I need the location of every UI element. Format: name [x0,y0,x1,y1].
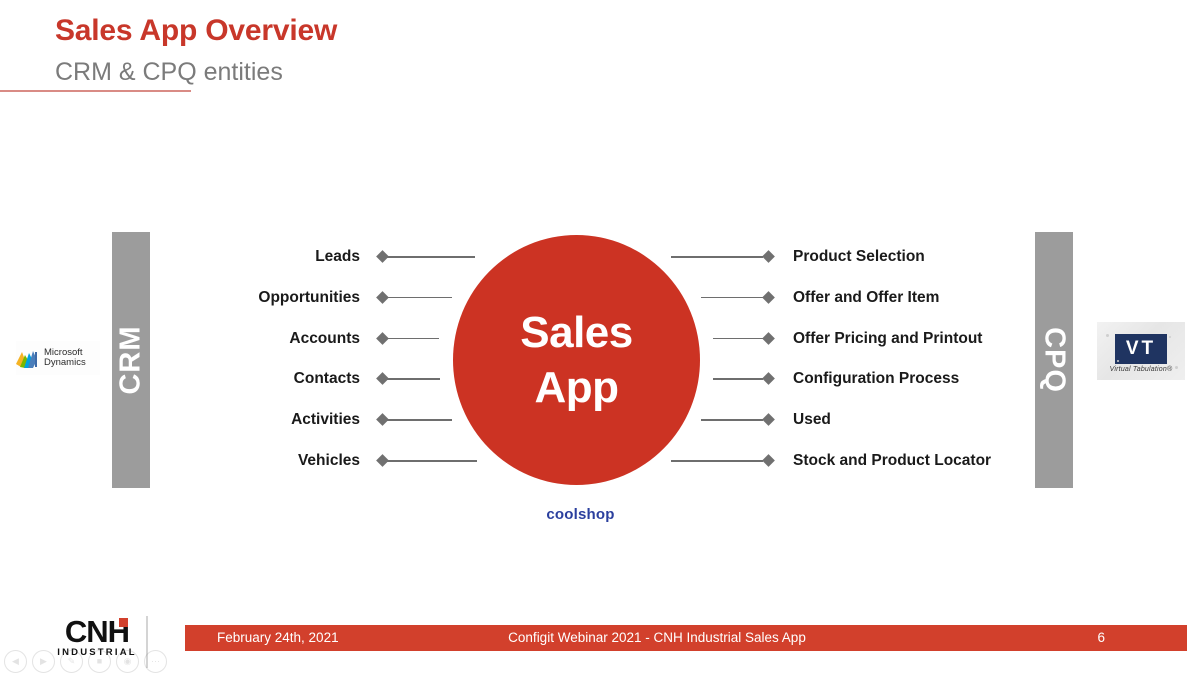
entity-row-right: Configuration Process [793,369,1123,389]
spoke-connector [671,256,763,258]
coolshop-caption: coolshop [0,506,1187,523]
pen-icon[interactable]: ✎ [60,650,83,673]
spoke-diamond-icon [762,332,775,345]
circle-line-1: Sales [520,305,632,360]
entity-row-left: Opportunities [180,288,360,308]
microsoft-dynamics-wordmark: Microsoft Dynamics [44,348,86,369]
entity-label-left: Activities [291,410,360,430]
play-icon[interactable]: ▶ [32,650,55,673]
spoke-connector [701,419,763,421]
microsoft-dynamics-mark-icon [16,348,40,369]
cnh-red-dot-icon [119,618,128,627]
entity-row-right: Used [793,410,1123,430]
entity-label-left: Accounts [289,329,360,349]
spoke-diamond-icon [762,250,775,263]
footer-title: Configit Webinar 2021 - CNH Industrial S… [156,625,1158,651]
microsoft-dynamics-logo: Microsoft Dynamics [16,341,100,375]
entity-row-left: Activities [180,410,360,430]
entity-row-left: Leads [180,247,360,267]
entity-label-right: Used [793,410,831,430]
rewind-icon[interactable]: ◀ [4,650,27,673]
spoke-diamond-icon [762,373,775,386]
entity-row-right: Offer Pricing and Printout [793,329,1123,349]
entity-label-right: Configuration Process [793,369,959,389]
entity-row-left: Contacts [180,369,360,389]
cnh-wordmark: CNH [47,616,147,648]
coolshop-text: coolshop [546,506,614,523]
page-subtitle: CRM & CPQ entities [55,58,283,87]
entity-row-right: Product Selection [793,247,1123,267]
stop-icon[interactable]: ■ [88,650,111,673]
spoke-connector [387,378,440,380]
entity-row-right: Offer and Offer Item [793,288,1123,308]
spoke-connector [671,460,763,462]
spoke-diamond-icon [762,291,775,304]
spoke-connector [387,256,475,258]
entity-label-right: Product Selection [793,247,925,267]
entity-row-left: Vehicles [180,451,360,471]
entity-label-right: Offer and Offer Item [793,288,939,308]
footer-bar: February 24th, 2021 Configit Webinar 202… [185,625,1187,651]
footer-page-number: 6 [1097,625,1105,651]
crm-pillar: CRM [112,232,150,488]
spoke-connector [387,460,477,462]
circle-line-2: App [534,360,618,415]
entity-row-right: Stock and Product Locator [793,451,1123,471]
spoke-connector [387,419,452,421]
spoke-connector [713,338,763,340]
entity-label-left: Contacts [294,369,360,389]
spoke-connector [713,378,763,380]
sales-app-circle: Sales App [453,235,700,485]
more-icon[interactable]: ⋯ [144,650,167,673]
entity-label-right: Stock and Product Locator [793,451,991,471]
entity-label-left: Vehicles [298,451,360,471]
crm-pillar-label: CRM [115,325,148,394]
spoke-connector [387,338,439,340]
entity-label-right: Offer Pricing and Printout [793,329,982,349]
spoke-connector [387,297,452,299]
volume-icon[interactable]: ◉ [116,650,139,673]
media-controls[interactable]: ◀▶✎■◉⋯ [4,648,167,674]
page-title: Sales App Overview [55,14,337,48]
spoke-diamond-icon [762,413,775,426]
entity-label-left: Leads [315,247,360,267]
cpq-pillar: CPQ [1035,232,1073,488]
spoke-diamond-icon [762,454,775,467]
slide-canvas: Sales App Overview CRM & CPQ entities CR… [0,0,1187,668]
entity-label-left: Opportunities [258,288,360,308]
title-underline-rule [0,90,191,92]
spoke-connector [701,297,763,299]
entity-row-left: Accounts [180,329,360,349]
ms-logo-line2: Dynamics [44,358,86,369]
